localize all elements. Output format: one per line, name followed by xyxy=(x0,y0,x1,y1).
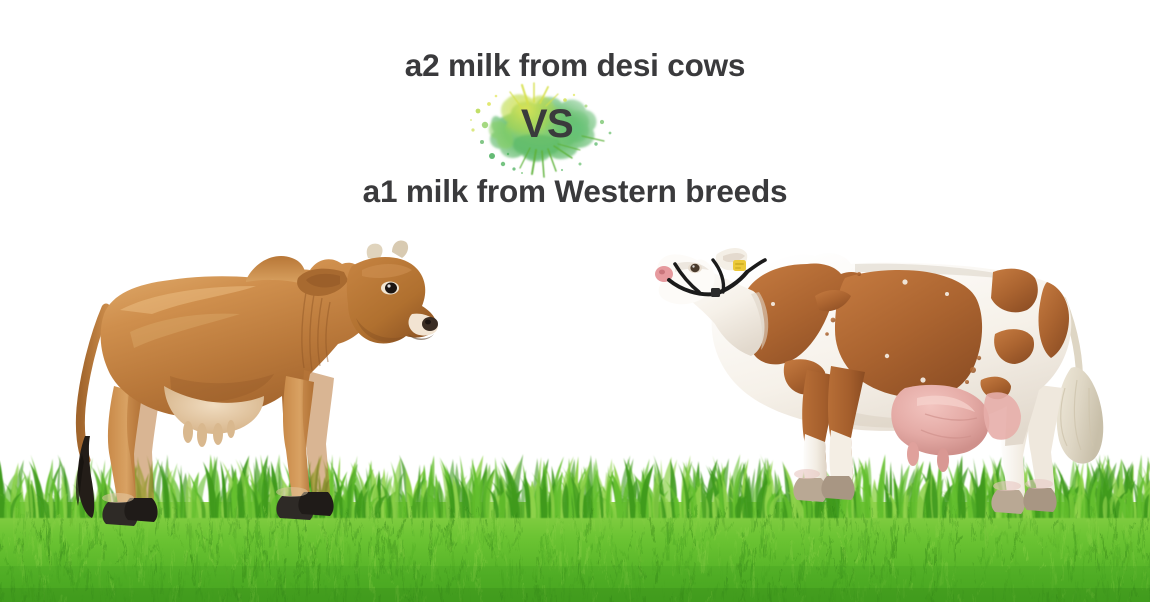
desi-cow-horn xyxy=(392,240,408,258)
hoof xyxy=(124,498,157,522)
hoof xyxy=(991,490,1024,514)
western-cow-udder xyxy=(891,385,1021,472)
desi-cow-front-legs xyxy=(276,370,334,520)
desi-cow-icon xyxy=(60,236,460,536)
halter-ring xyxy=(711,288,720,297)
hoof xyxy=(821,476,854,500)
infographic-canvas: a2 milk from desi cows xyxy=(0,0,1150,602)
hoof xyxy=(298,492,333,516)
desi-cow-nose xyxy=(422,317,438,331)
versus-label: VS xyxy=(462,102,632,147)
western-cow-icon xyxy=(655,238,1125,530)
western-cow-head xyxy=(655,248,768,356)
versus-badge: VS xyxy=(462,78,632,182)
headline-a1-milk: a1 milk from Western breeds xyxy=(0,173,1150,210)
hoof xyxy=(1023,488,1056,512)
teat xyxy=(937,448,949,472)
ear-tag-icon xyxy=(733,260,746,271)
teat xyxy=(907,442,919,466)
western-cow-eye xyxy=(688,263,702,273)
desi-cow-eye xyxy=(381,282,399,295)
